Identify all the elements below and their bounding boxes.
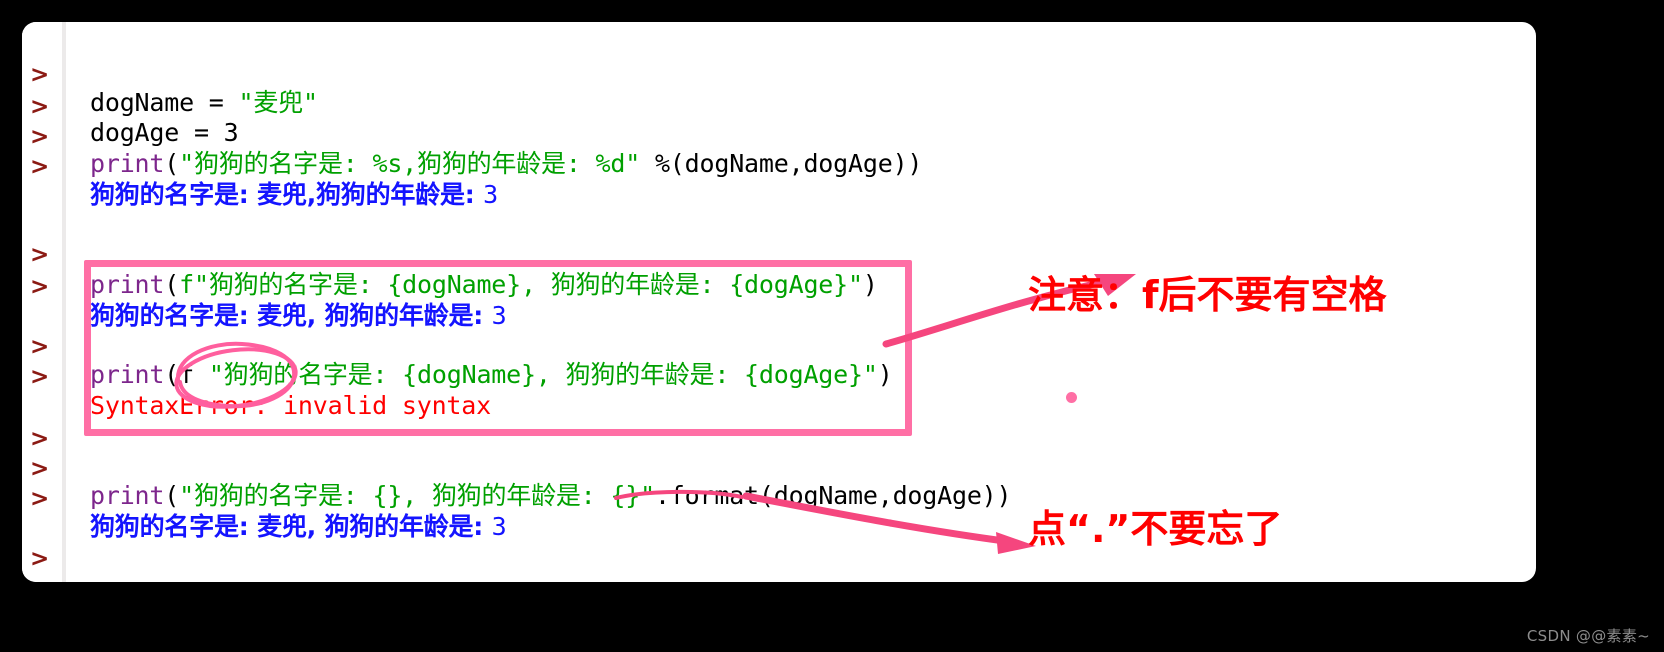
code-token-string: "狗狗的名字是: {dogName}, 狗狗的年龄是: {dogAge}" xyxy=(209,360,878,389)
code-token-plain: dogAge = 3 xyxy=(90,118,239,147)
annotation-note-f-space: 注意：f后不要有空格 xyxy=(1028,264,1387,319)
code-token-string: "狗狗的名字是: {}, 狗狗的年龄是: {}" xyxy=(179,481,655,510)
code-token-plain: ( xyxy=(164,481,179,510)
screenshot-root: >>>>>>>>>>>>> dogName = "麦兜"dogAge = 3pr… xyxy=(0,0,1664,652)
text-caret xyxy=(88,360,91,390)
print-str-format[interactable]: print("狗狗的名字是: {}, 狗狗的年龄是: {}".format(do… xyxy=(90,481,1011,511)
code-token-plain: ) xyxy=(878,360,893,389)
prompt-marker: > xyxy=(30,488,49,511)
print-percent-format[interactable]: print("狗狗的名字是: %s,狗狗的年龄是: %d" %(dogName,… xyxy=(90,149,922,179)
code-token-fn: print xyxy=(90,360,164,389)
code-token-plain: .format(dogName,dogAge)) xyxy=(655,481,1011,510)
code-token-plain: ) xyxy=(863,270,878,299)
assign-dogage[interactable]: dogAge = 3 xyxy=(90,118,239,148)
prompt-marker: > xyxy=(30,548,49,571)
syntax-error-message: SyntaxError: invalid syntax xyxy=(90,391,491,421)
code-token-string: "狗狗的名字是: %s,狗狗的年龄是: %d" xyxy=(179,149,640,178)
output-percent-format: 狗狗的名字是: 麦兜,狗狗的年龄是: 3 xyxy=(90,180,498,210)
code-token-out: 狗狗的名字是: 麦兜,狗狗的年龄是: xyxy=(90,180,483,209)
prompt-marker: > xyxy=(30,244,49,267)
prompt-marker: > xyxy=(30,336,49,359)
prompt-marker: > xyxy=(30,428,49,451)
code-token-plain: %(dogName,dogAge)) xyxy=(640,149,922,178)
prompt-marker: > xyxy=(30,366,49,389)
code-token-plain: ( xyxy=(164,149,179,178)
code-token-out: 狗狗的名字是: 麦兜, 狗狗的年龄是: xyxy=(90,301,492,330)
code-token-fn: print xyxy=(90,270,164,299)
prompt-marker: > xyxy=(30,458,49,481)
code-token-outnum: 3 xyxy=(483,180,498,209)
code-token-plain: dogName = xyxy=(90,88,239,117)
gutter-divider xyxy=(62,22,66,582)
code-token-string: f"狗狗的名字是: {dogName}, 狗狗的年龄是: {dogAge}" xyxy=(179,270,863,299)
assign-dogname[interactable]: dogName = "麦兜" xyxy=(90,88,318,118)
code-token-fn: print xyxy=(90,149,164,178)
code-token-outnum: 3 xyxy=(492,301,507,330)
prompt-marker: > xyxy=(30,64,49,87)
annotation-note-dot: 点“.”不要忘了 xyxy=(1028,498,1282,553)
prompt-marker: > xyxy=(30,156,49,179)
code-token-string: "麦兜" xyxy=(239,88,318,117)
print-fstring-correct[interactable]: print(f"狗狗的名字是: {dogName}, 狗狗的年龄是: {dogA… xyxy=(90,270,878,300)
code-token-plain: ( xyxy=(164,270,179,299)
output-str-format: 狗狗的名字是: 麦兜, 狗狗的年龄是: 3 xyxy=(90,512,506,542)
code-token-plain: (f xyxy=(164,360,209,389)
prompt-marker: > xyxy=(30,96,49,119)
prompt-marker: > xyxy=(30,578,49,582)
output-fstring-correct: 狗狗的名字是: 麦兜, 狗狗的年龄是: 3 xyxy=(90,301,506,331)
code-token-outnum: 3 xyxy=(492,512,507,541)
pink-dot-mark xyxy=(1066,392,1077,403)
print-fstring-error[interactable]: print(f "狗狗的名字是: {dogName}, 狗狗的年龄是: {dog… xyxy=(90,360,893,390)
prompt-marker: > xyxy=(30,126,49,149)
prompt-marker: > xyxy=(30,276,49,299)
watermark-label: CSDN @@素素~ xyxy=(1527,625,1650,646)
code-token-fn: print xyxy=(90,481,164,510)
code-token-out: 狗狗的名字是: 麦兜, 狗狗的年龄是: xyxy=(90,512,492,541)
prompt-gutter: >>>>>>>>>>>>> xyxy=(22,22,60,582)
code-token-err: SyntaxError: invalid syntax xyxy=(90,391,491,420)
